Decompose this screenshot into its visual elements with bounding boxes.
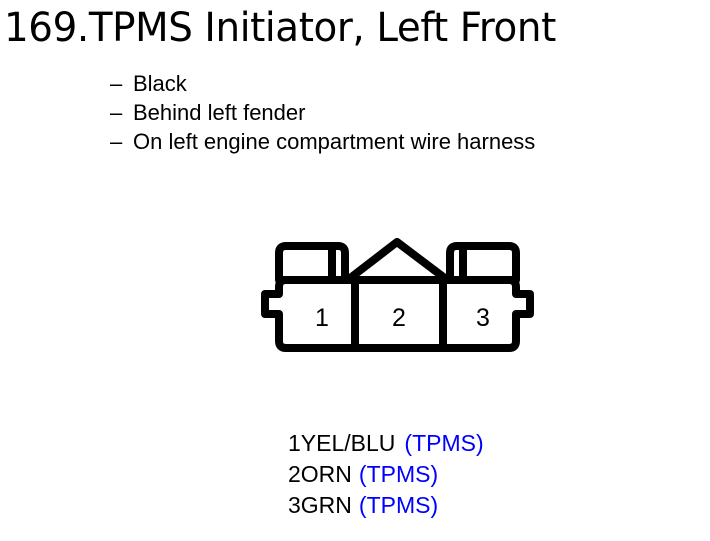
pin-legend-row: 2ORN(TPMS) xyxy=(288,459,688,490)
dash-icon: – xyxy=(110,69,133,98)
pin-signal-label: (TPMS) xyxy=(404,430,483,456)
pin-signal-label: (TPMS) xyxy=(359,492,438,518)
pin-wire-label: 3GRN xyxy=(288,492,352,518)
list-item-label: Black xyxy=(133,69,187,98)
pin-signal-label: (TPMS) xyxy=(359,461,438,487)
pin-number-3: 3 xyxy=(476,304,490,332)
description-list: – Black – Behind left fender – On left e… xyxy=(110,69,700,156)
pin-wire-label: 1YEL/BLU xyxy=(288,430,395,456)
pin-number-1: 1 xyxy=(315,304,329,332)
connector-diagram: 1 2 3 xyxy=(255,228,540,363)
list-item: – Behind left fender xyxy=(110,98,700,127)
pin-wire-label: 2ORN xyxy=(288,461,352,487)
list-item-label: Behind left fender xyxy=(133,98,305,127)
list-item: – Black xyxy=(110,69,700,98)
page-title: 169.TPMS Initiator, Left Front xyxy=(4,2,689,54)
list-item: – On left engine compartment wire harnes… xyxy=(110,127,700,156)
pin-legend-row: 1YEL/BLU(TPMS) xyxy=(288,428,688,459)
pin-legend: 1YEL/BLU(TPMS) 2ORN(TPMS) 3GRN(TPMS) xyxy=(288,428,688,521)
pin-legend-row: 3GRN(TPMS) xyxy=(288,490,688,521)
list-item-label: On left engine compartment wire harness xyxy=(133,127,535,156)
dash-icon: – xyxy=(110,98,133,127)
dash-icon: – xyxy=(110,127,133,156)
pin-number-2: 2 xyxy=(392,304,406,332)
connector-outline-svg: 1 2 3 xyxy=(255,228,540,363)
